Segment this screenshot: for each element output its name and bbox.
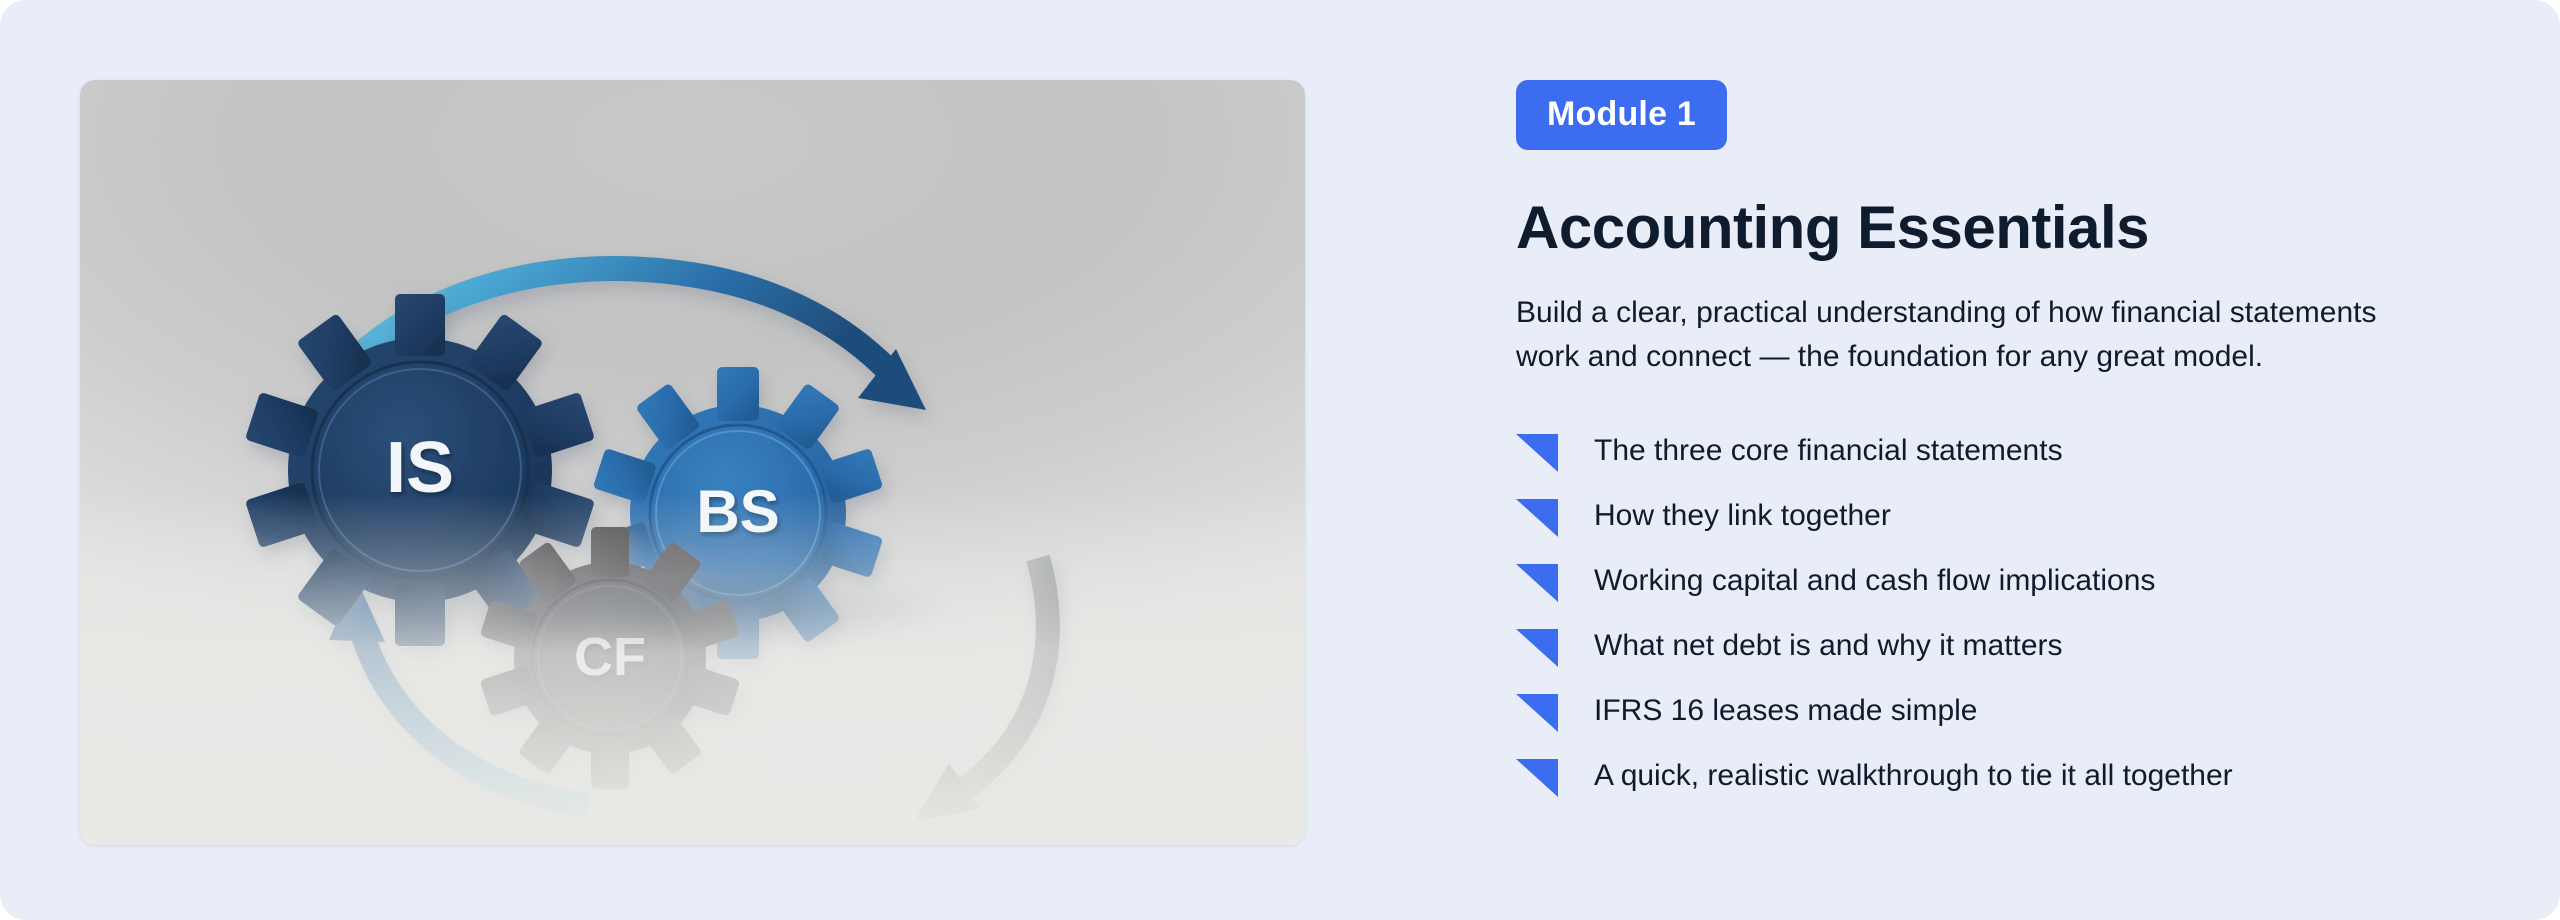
gear-label-is: IS: [386, 428, 454, 508]
list-item-label: Working capital and cash flow implicatio…: [1594, 562, 2155, 600]
gears-illustration: IS: [80, 80, 1305, 845]
module-info: Module 1 Accounting Essentials Build a c…: [1516, 0, 2476, 920]
triangle-bullet-icon: [1516, 694, 1558, 732]
list-item: A quick, realistic walkthrough to tie it…: [1516, 757, 2476, 797]
list-item-label: IFRS 16 leases made simple: [1594, 692, 1978, 730]
list-item-label: The three core financial statements: [1594, 432, 2063, 470]
module-card: IS: [0, 0, 2560, 920]
triangle-bullet-icon: [1516, 499, 1558, 537]
list-item-label: What net debt is and why it matters: [1594, 627, 2063, 665]
page-title: Accounting Essentials: [1516, 196, 2476, 259]
module-badge: Module 1: [1516, 80, 1727, 150]
triangle-bullet-icon: [1516, 434, 1558, 472]
triangle-bullet-icon: [1516, 564, 1558, 602]
triangle-bullet-icon: [1516, 629, 1558, 667]
list-item-label: How they link together: [1594, 497, 1891, 535]
gear-label-cf: CF: [574, 627, 646, 687]
list-item: Working capital and cash flow implicatio…: [1516, 562, 2476, 602]
triangle-bullet-icon: [1516, 759, 1558, 797]
list-item-label: A quick, realistic walkthrough to tie it…: [1594, 757, 2233, 795]
list-item: The three core financial statements: [1516, 432, 2476, 472]
list-item: IFRS 16 leases made simple: [1516, 692, 2476, 732]
illustration-panel: IS: [80, 80, 1305, 845]
module-topics-list: The three core financial statements How …: [1516, 432, 2476, 797]
list-item: How they link together: [1516, 497, 2476, 537]
gear-label-bs: BS: [696, 478, 779, 545]
module-description: Build a clear, practical understanding o…: [1516, 291, 2396, 378]
list-item: What net debt is and why it matters: [1516, 627, 2476, 667]
arrow-bs-to-cf-icon: [914, 558, 1048, 822]
